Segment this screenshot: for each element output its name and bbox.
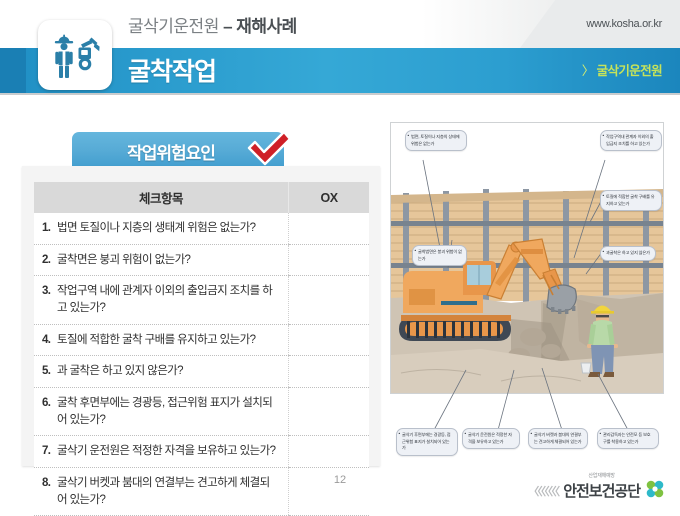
checklist-item-text: 과 굴착은 하고 있지 않은가? [57,363,279,380]
table-row: 2.굴착면은 붕괴 위험이 없는가? [34,244,369,276]
checklist-item-text: 토질에 적합한 굴착 구배를 유지하고 있는가? [57,332,279,349]
callout-slope-grade: 토질에 적합한 굴착 구배를 유지하고 있는가 [600,190,662,211]
checklist-item-number: 2. [42,252,57,269]
header-bottom-rule [0,93,680,95]
header-kicker-prefix: 굴삭기운전원 [128,17,223,36]
header-band-accent [0,48,26,93]
table-header-row: 체크항목 OX [34,182,369,213]
red-check-icon [245,128,293,168]
callout-over-excavation: 과굴착은 하고 있지 않은가 [600,246,656,261]
checklist-item-text: 굴착면은 붕괴 위험이 없는가? [57,252,279,269]
header-kicker-suffix: – 재해사례 [223,17,297,36]
checklist-item-text: 법면 토질이나 지층의 생태계 위험은 없는가? [57,220,279,237]
page-header: 굴삭기운전원 – 재해사례 굴착작업 www.kosha.or.kr 〉굴삭기운… [0,0,680,98]
callout-bucket-joint: 굴삭기 버켓과 붐대의 연결부는 견고하게 체결되어 있는가 [528,428,588,449]
callout-operator-license: 굴삭기 운전원은 적정한 자격을 보유하고 있는가 [462,428,520,449]
callout-face-collapse: 굴착법면은 붕괴 위험이 없는가 [412,245,467,266]
checklist-item-number: 1. [42,220,57,237]
checklist-item-number: 5. [42,363,57,380]
breadcrumb-label: 굴삭기운전원 [597,64,662,78]
callout-access-ban: 작업구역내 관계자 이외의 출입금지 조치를 하고 있는가 [600,130,662,151]
page-title: 굴착작업 [128,52,216,88]
checklist-ox-cell[interactable] [289,276,370,324]
checklist-ox-cell[interactable] [289,213,370,244]
checklist-item-number: 3. [42,283,57,300]
checklist-ox-cell[interactable] [289,244,370,276]
checklist-item-number: 7. [42,443,57,460]
checklist-ox-cell[interactable] [289,388,370,436]
callout-supervisor-ppe: 관리감독자는 안전모 등 보호구를 착용하고 있는가 [597,428,659,449]
checklist-item-cell: 6.굴착 후면부에는 경광등, 접근위험 표지가 설치되어 있는가? [34,388,289,436]
checklist-item-cell: 4.토질에 적합한 굴착 구배를 유지하고 있는가? [34,324,289,356]
checklist-item-text: 작업구역 내에 관계자 이외의 출입금지 조치를 하고 있는가? [57,283,279,316]
checklist-item-cell: 3.작업구역 내에 관계자 이외의 출입금지 조치를 하고 있는가? [34,276,289,324]
checklist-item-number: 6. [42,395,57,412]
table-row: 5.과 굴착은 하고 있지 않은가? [34,356,369,388]
table-row: 6.굴착 후면부에는 경광등, 접근위험 표지가 설치되어 있는가? [34,388,369,436]
callout-slope-soil: 법면, 토질이나 지층의 상태에 위험은 없는가 [405,130,467,151]
column-header-item: 체크항목 [34,182,289,213]
checklist-table: 체크항목 OX 1.법면 토질이나 지층의 생태계 위험은 없는가?2.굴착면은… [34,182,369,516]
breadcrumb[interactable]: 〉굴삭기운전원 [582,60,662,79]
site-url[interactable]: www.kosha.or.kr [586,18,662,30]
checklist-item-cell: 5.과 굴착은 하고 있지 않은가? [34,356,289,388]
table-row: 7.굴삭기 운전원은 적정한 자격을 보유하고 있는가? [34,436,369,468]
chevron-right-icon: 〉 [582,64,594,78]
checklist-item-cell: 2.굴착면은 붕괴 위험이 없는가? [34,244,289,276]
checklist-ox-cell[interactable] [289,324,370,356]
callout-rear-signs: 굴삭기 후면부에는 경광등, 접근위험 표지가 설치되어 있는가 [396,428,458,456]
checklist-item-text: 굴착 후면부에는 경광등, 접근위험 표지가 설치되어 있는가? [57,395,279,428]
checklist-ox-cell[interactable] [289,436,370,468]
checklist-ox-cell[interactable] [289,356,370,388]
checklist-item-number: 4. [42,332,57,349]
table-row: 3.작업구역 내에 관계자 이외의 출입금지 조치를 하고 있는가? [34,276,369,324]
table-row: 4.토질에 적합한 굴착 구배를 유지하고 있는가? [34,324,369,356]
column-header-ox: OX [289,182,370,213]
table-row: 1.법면 토질이나 지층의 생태계 위험은 없는가? [34,213,369,244]
checklist-card: 체크항목 OX 1.법면 토질이나 지층의 생태계 위험은 없는가?2.굴착면은… [22,166,380,466]
header-kicker: 굴삭기운전원 – 재해사례 [128,12,297,37]
checklist-item-cell: 1.법면 토질이나 지층의 생태계 위험은 없는가? [34,213,289,244]
worker-excavator-icon [38,20,112,90]
checklist-item-cell: 7.굴삭기 운전원은 적정한 자격을 보유하고 있는가? [34,436,289,468]
checklist-item-text: 굴삭기 운전원은 적정한 자격을 보유하고 있는가? [57,443,279,460]
